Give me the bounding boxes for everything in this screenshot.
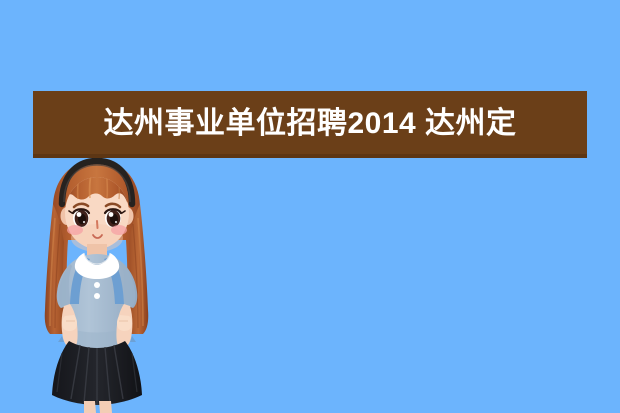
title-banner: 达州事业单位招聘2014 达州定 — [33, 91, 587, 158]
hand-left — [62, 315, 77, 331]
schoolgirl-svg — [28, 158, 188, 413]
page-title: 达州事业单位招聘2014 达州定 — [103, 109, 516, 139]
button-top — [94, 282, 100, 288]
slide-canvas: 达州事业单位招聘2014 达州定 — [0, 0, 620, 413]
skirt — [52, 341, 142, 405]
button-bottom — [94, 293, 100, 299]
leg-right — [99, 401, 112, 413]
schoolgirl-illustration — [28, 158, 188, 413]
nose-icon — [97, 221, 98, 228]
leg-left — [84, 401, 96, 413]
hand-right — [117, 315, 132, 331]
